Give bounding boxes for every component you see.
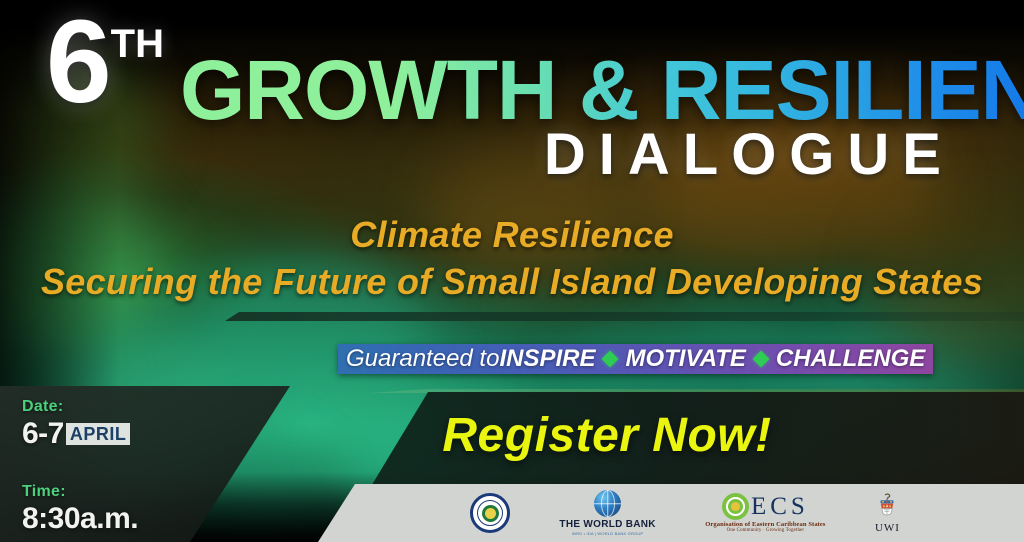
- headline-block: 6 TH GROWTH & RESILIENCE DIALOGUE: [0, 6, 1024, 196]
- uwi-crest-icon: [876, 493, 898, 521]
- oecs-wordmark: ECS: [722, 493, 809, 520]
- event-banner: 6 TH GROWTH & RESILIENCE DIALOGUE Climat…: [0, 0, 1024, 542]
- oecs-sun-icon: [722, 493, 749, 520]
- theme-block: Climate Resilience Securing the Future o…: [0, 214, 1024, 303]
- event-details-block: Date: 6-7 APRIL Time: 8:30a.m.: [22, 398, 138, 536]
- theme-line-1: Climate Resilience: [0, 214, 1024, 256]
- seal-core-icon: [482, 505, 499, 522]
- diamond-icon: [602, 351, 619, 368]
- decorative-slant-bar: [225, 312, 1024, 321]
- tagline-bar: Guaranteed to INSPIRE MOTIVATE CHALLENGE: [338, 344, 933, 374]
- partner-logo-world-bank: THE WORLD BANK IBRD • IDA | WORLD BANK G…: [559, 490, 655, 536]
- date-label: Date:: [22, 398, 138, 416]
- oecs-full-name: Organisation of Eastern Caribbean States: [705, 521, 825, 528]
- page-title: GROWTH & RESILIENCE: [180, 54, 1024, 126]
- partner-logos: THE WORLD BANK IBRD • IDA | WORLD BANK G…: [470, 484, 900, 542]
- circular-seal-icon: [470, 493, 510, 533]
- date-value-row: 6-7 APRIL: [22, 417, 138, 451]
- tagline-lead: Guaranteed to: [346, 345, 499, 373]
- page-subtitle: DIALOGUE: [544, 121, 954, 188]
- oecs-sun-core-icon: [731, 502, 740, 511]
- uwi-name: UWI: [875, 522, 900, 534]
- partner-logo-oecs: ECS Organisation of Eastern Caribbean St…: [705, 493, 825, 533]
- register-now-button[interactable]: Register Now!: [0, 408, 1024, 463]
- time-value: 8:30a.m.: [22, 502, 138, 536]
- tagline-word-inspire: INSPIRE: [499, 345, 595, 373]
- partner-logo-government: [470, 493, 510, 533]
- headline-primary-line: 6 TH GROWTH & RESILIENCE: [46, 8, 1024, 126]
- tagline-word-motivate: MOTIVATE: [625, 345, 745, 373]
- world-bank-subtitle: IBRD • IDA | WORLD BANK GROUP: [572, 531, 643, 536]
- partner-logo-uwi: UWI: [875, 493, 900, 534]
- date-value: 6-7: [22, 417, 64, 451]
- oecs-letters: ECS: [751, 494, 809, 519]
- edition-number: 6: [46, 8, 109, 117]
- spacer: [22, 451, 138, 483]
- tagline-word-challenge: CHALLENGE: [776, 345, 925, 373]
- oecs-tagline: One Community · Growing Together: [727, 528, 804, 533]
- date-month-badge: APRIL: [66, 423, 131, 446]
- globe-ring-icon: [601, 490, 615, 517]
- globe-icon: [594, 490, 621, 517]
- diamond-icon: [752, 351, 769, 368]
- edition-ordinal-suffix: TH: [111, 22, 164, 67]
- world-bank-name: THE WORLD BANK: [559, 519, 655, 530]
- time-label: Time:: [22, 483, 138, 501]
- theme-line-2: Securing the Future of Small Island Deve…: [0, 261, 1024, 303]
